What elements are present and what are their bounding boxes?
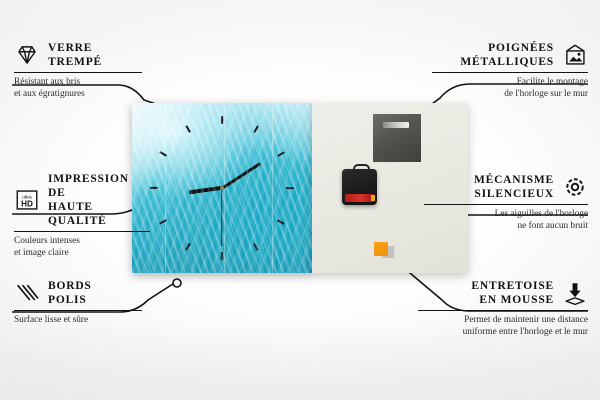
clock-tick [286, 187, 294, 189]
feature-title-line1: MÉCANISME [474, 173, 554, 187]
clock-front-glass [132, 103, 312, 273]
feature-desc-line1: Permet de maintenir une distance [418, 315, 588, 327]
feature-title-line1: ENTRETOISE [471, 279, 554, 293]
press-down-icon [562, 280, 588, 306]
clock-center-pin [220, 186, 224, 190]
feature-title-line1: POIGNÉES [460, 41, 554, 55]
gear-icon [562, 174, 588, 200]
clock-second-hand [221, 188, 222, 246]
feature-desc-line1: Les aiguilles de l'horloge [424, 209, 588, 221]
clock-tick [159, 219, 167, 224]
feature-title-line2: TREMPÉ [48, 55, 102, 69]
feature-rule [14, 231, 150, 232]
feature-title-line2: MÉTALLIQUES [460, 55, 554, 69]
clock-tick [221, 116, 223, 124]
feature-entretoise-mousse: ENTRETOISE EN MOUSSE Permet de maintenir… [418, 279, 588, 338]
feature-desc-line2: et image claire [14, 248, 150, 260]
feature-desc-line2: de l'horloge sur le mur [432, 89, 588, 101]
feature-rule [418, 310, 588, 311]
clock-tick [150, 187, 158, 189]
foam-spacer [374, 242, 388, 256]
feature-desc-line1: Résistant aux bris [14, 77, 142, 89]
feature-rule [14, 72, 142, 73]
product-image [132, 103, 468, 273]
glass-panel-line [165, 103, 166, 273]
clock-hour-hand [189, 186, 222, 194]
feature-desc-line2: ne font aucun bruit [424, 221, 588, 233]
battery-terminal [371, 195, 375, 201]
svg-text:HD: HD [21, 200, 33, 209]
feature-desc-line1: Surface lisse et sûre [14, 315, 142, 327]
feature-rule [432, 72, 588, 73]
clock-tick [253, 125, 258, 133]
feature-title-line2: SILENCIEUX [474, 187, 554, 201]
mechanism-loop [353, 164, 370, 174]
feature-rule [14, 310, 142, 311]
polished-edges-icon [14, 280, 40, 306]
clock-tick [185, 125, 190, 133]
picture-frame-icon [562, 42, 588, 68]
clock-tick [277, 151, 285, 156]
feature-desc-line1: Couleurs intenses [14, 236, 150, 248]
feature-rule [424, 204, 588, 205]
feature-title-line2: EN MOUSSE [471, 293, 554, 307]
clock-face [132, 103, 312, 273]
feature-title-line2: HAUTE QUALITÉ [48, 200, 150, 228]
feature-bords-polis: BORDS POLIS Surface lisse et sûre [14, 279, 142, 327]
clock-tick [159, 151, 167, 156]
feature-desc-line1: Facilite le montage [432, 77, 588, 89]
hanger-slot [383, 122, 409, 128]
glass-panel-line [272, 103, 273, 273]
feature-desc-line2: uniforme entre l'horloge et le mur [418, 327, 588, 339]
feature-poignees-metalliques: POIGNÉES MÉTALLIQUES Facilite le montage… [432, 41, 588, 100]
glass-panel-line [224, 103, 225, 273]
feature-verre-trempe: VERRE TREMPÉ Résistant aux bris et aux é… [14, 41, 142, 100]
ultra-hd-icon: ultra HD [14, 187, 40, 213]
clock-tick [277, 219, 285, 224]
clock-tick [221, 252, 223, 260]
feature-desc-line2: et aux égratignures [14, 89, 142, 101]
quartz-mechanism [342, 169, 377, 205]
battery [345, 194, 374, 202]
feature-title-line2: POLIS [48, 293, 92, 307]
metal-hanger-icon [373, 114, 421, 162]
clock-tick [253, 243, 258, 251]
feature-title-line1: BORDS [48, 279, 92, 293]
feature-title-line1: VERRE [48, 41, 102, 55]
diamond-icon [14, 42, 40, 68]
clock-tick [185, 243, 190, 251]
feature-title-line1: IMPRESSION DE [48, 172, 150, 200]
feature-mecanisme-silencieux: MÉCANISME SILENCIEUX Les aiguilles de l'… [424, 173, 588, 232]
feature-impression-hd: ultra HD IMPRESSION DE HAUTE QUALITÉ Cou… [14, 172, 150, 259]
clock-minute-hand [221, 162, 260, 189]
